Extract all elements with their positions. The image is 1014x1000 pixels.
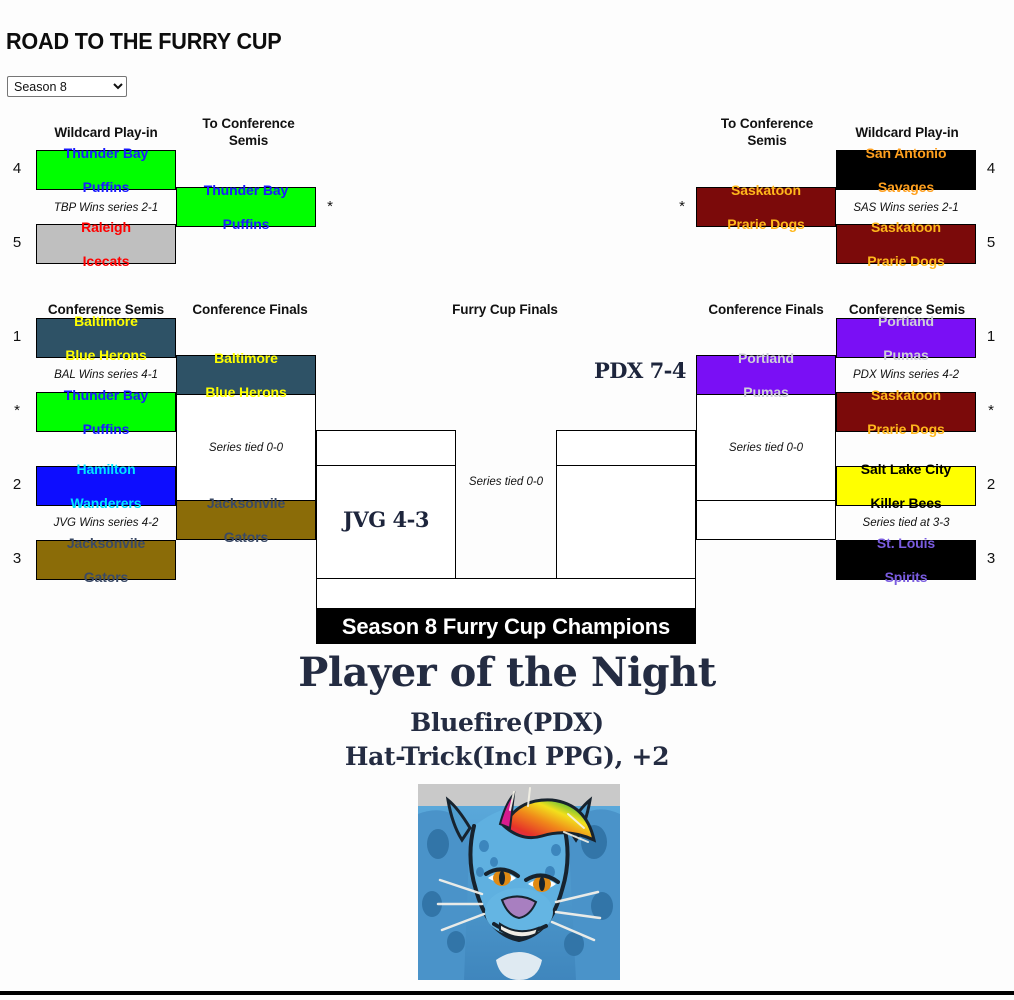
score-left-final-game: JVG 4-3 — [316, 507, 456, 532]
series-note-cup-final: Series tied 0-0 — [446, 472, 566, 492]
team-line1: Portland — [738, 350, 794, 367]
team-line1: Thunder Bay — [64, 145, 148, 162]
seed-left-wc-top: 4 — [8, 160, 26, 177]
team-line2: Pumas — [738, 384, 794, 401]
score-right-final-game: PDX 7-4 — [560, 358, 720, 383]
seed-left-wc-bottom: 5 — [8, 234, 26, 251]
team-line1: Salt Lake City — [861, 461, 951, 478]
caption-right-finals: Conference Finals — [696, 301, 836, 318]
footer-rule — [0, 991, 1014, 995]
team-line2: Spirits — [877, 569, 935, 586]
team-line2: Puffins — [204, 216, 288, 233]
team-line1: Jacksonvile — [67, 535, 145, 552]
team-line2: Gators — [67, 569, 145, 586]
seed-right-wc-bottom: 5 — [982, 234, 1000, 251]
series-note-right-final: Series tied 0-0 — [696, 432, 836, 464]
team-line1: Thunder Bay — [204, 182, 288, 199]
team-line2: Icecats — [81, 253, 131, 270]
team-line1: St. Louis — [877, 535, 935, 552]
team-line2: Blue Herons — [205, 384, 286, 401]
caption-left-to-semis: To Conference Semis — [186, 115, 311, 149]
right-finals-empty-slot — [696, 500, 836, 540]
star-right-wildcard-winner: * — [674, 198, 690, 215]
team-line1: Saskatoon — [867, 219, 945, 236]
team-line1: Hamilton — [71, 461, 142, 478]
seed-left-semi-3: 3 — [8, 550, 26, 567]
team-line1: San Antonio — [866, 145, 947, 162]
team-portland-semis[interactable]: Portland Pumas — [836, 318, 976, 358]
star-left-wildcard-winner: * — [322, 198, 338, 215]
team-salt-lake-semis[interactable]: Salt Lake City Killer Bees — [836, 466, 976, 506]
team-hamilton-semis[interactable]: Hamilton Wanderers — [36, 466, 176, 506]
team-line1: Portland — [878, 313, 934, 330]
seed-left-semi-1: 1 — [8, 328, 26, 345]
team-line2: Prarie Dogs — [727, 216, 805, 233]
team-line1: Raleigh — [81, 219, 131, 236]
caption-left-wildcard: Wildcard Play-in — [36, 124, 176, 141]
caption-cup-finals: Furry Cup Finals — [430, 301, 580, 318]
team-line1: Saskatoon — [727, 182, 805, 199]
seed-right-semi-2: 2 — [982, 476, 1000, 493]
bracket-page: ROAD TO THE FURRY CUP Season 8 Wildcard … — [0, 0, 1014, 1000]
team-line1: Baltimore — [65, 313, 146, 330]
caption-right-to-semis: To Conference Semis — [706, 115, 828, 149]
team-jacksonville-finals[interactable]: Jacksonvile Gators — [176, 500, 316, 540]
team-thunder-bay-semis[interactable]: Thunder Bay Puffins — [36, 392, 176, 432]
seed-right-semi-1: 1 — [982, 328, 1000, 345]
cup-final-left-slot — [316, 430, 456, 466]
team-saskatoon-advances[interactable]: Saskatoon Prarie Dogs — [696, 187, 836, 227]
team-line2: Prarie Dogs — [867, 253, 945, 270]
caption-left-finals: Conference Finals — [180, 301, 320, 318]
player-of-the-night-statline: Hat-Trick(Incl PPG), +2 — [0, 740, 1014, 774]
seed-right-semi-3: 3 — [982, 550, 1000, 567]
player-of-the-night-player: Bluefire(PDX) — [0, 706, 1014, 740]
team-line2: Puffins — [64, 421, 148, 438]
team-thunder-bay-advances[interactable]: Thunder Bay Puffins — [176, 187, 316, 227]
caption-right-wildcard: Wildcard Play-in — [836, 124, 978, 141]
cup-final-right-slot — [556, 430, 696, 466]
player-of-the-night-portrait — [418, 784, 620, 980]
team-line1: Saskatoon — [867, 387, 945, 404]
team-jacksonville-semis[interactable]: Jacksonvile Gators — [36, 540, 176, 580]
season-select[interactable]: Season 8 — [7, 76, 127, 97]
team-baltimore-semis[interactable]: Baltimore Blue Herons — [36, 318, 176, 358]
champions-banner: Season 8 Furry Cup Champions — [316, 609, 696, 644]
player-of-the-night-heading: Player of the Night — [0, 651, 1014, 695]
star-left-semi-wildcard: * — [8, 402, 26, 419]
team-thunder-bay-wildcard[interactable]: Thunder Bay Puffins — [36, 150, 176, 190]
star-right-semi-wildcard: * — [982, 402, 1000, 419]
team-san-antonio-wildcard[interactable]: San Antonio Savages — [836, 150, 976, 190]
team-baltimore-finals[interactable]: Baltimore Blue Herons — [176, 355, 316, 395]
team-saskatoon-wildcard[interactable]: Saskatoon Prarie Dogs — [836, 224, 976, 264]
team-line1: Thunder Bay — [64, 387, 148, 404]
team-line1: Jacksonvile — [207, 495, 285, 512]
seed-right-wc-top: 4 — [982, 160, 1000, 177]
champion-name-slot — [316, 578, 696, 609]
team-saskatoon-semis[interactable]: Saskatoon Prarie Dogs — [836, 392, 976, 432]
team-st-louis-semis[interactable]: St. Louis Spirits — [836, 540, 976, 580]
team-line2: Gators — [207, 529, 285, 546]
team-raleigh-wildcard[interactable]: Raleigh Icecats — [36, 224, 176, 264]
team-line1: Baltimore — [205, 350, 286, 367]
series-note-left-final: Series tied 0-0 — [176, 432, 316, 464]
seed-left-semi-2: 2 — [8, 476, 26, 493]
team-line2: Prarie Dogs — [867, 421, 945, 438]
page-title: ROAD TO THE FURRY CUP — [6, 28, 282, 55]
